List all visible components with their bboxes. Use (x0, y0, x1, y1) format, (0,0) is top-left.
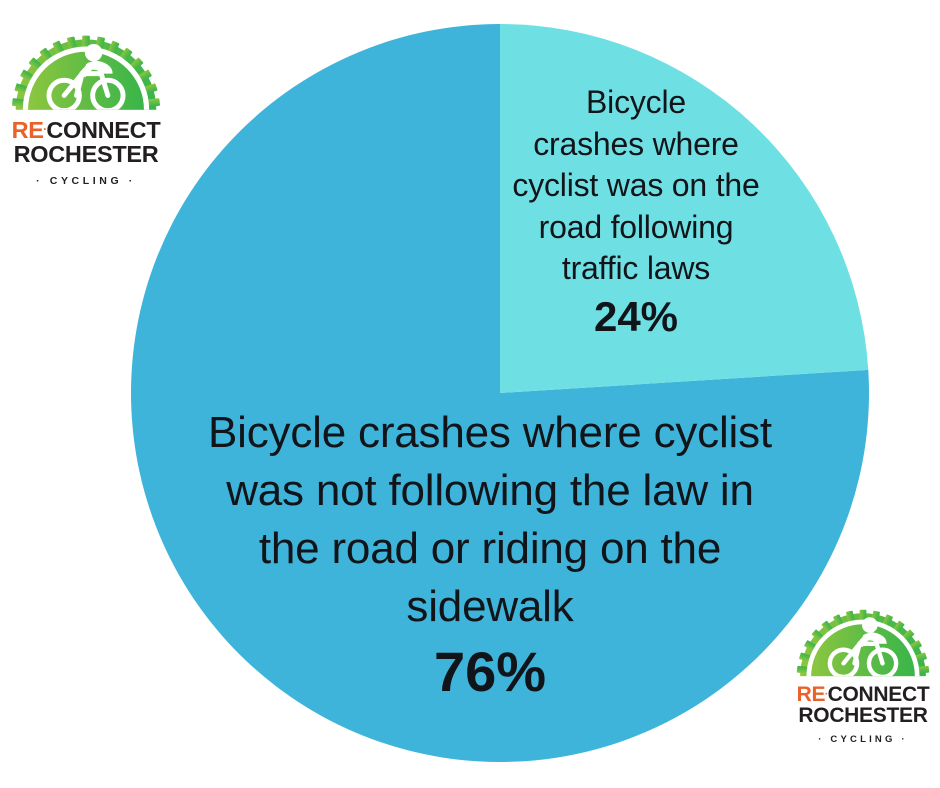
logo-tagline-dot-right: · (901, 734, 907, 745)
logo-tagline-dot-left: · (36, 175, 43, 187)
pie-label-76: Bicycle crashes where cyclist was not fo… (175, 404, 805, 706)
logo-tagline: · CYCLING · (10, 175, 162, 187)
logo-tagline-dot-left: · (818, 734, 824, 745)
logo-top-left: RE·CONNECT ROCHESTER · CYCLING · (10, 18, 162, 187)
pie-label-24-line-1: Bicycle (496, 82, 776, 124)
logo-wordmark-connect: CONNECT (828, 683, 930, 706)
pie-label-24-line-4: road following (496, 207, 776, 249)
logo-wordmark-dot: · (43, 123, 47, 136)
pie-label-24-line-3: cyclist was on the (496, 165, 776, 207)
pie-value-24: 24% (496, 292, 776, 342)
logo-wordmark-connect: CONNECT (46, 117, 160, 143)
pie-label-76-line-1: Bicycle crashes where cyclist (175, 404, 805, 462)
pie-label-24: Bicycle crashes where cyclist was on the… (496, 82, 776, 342)
pie-label-76-line-2: was not following the law in (175, 462, 805, 520)
logo-wordmark: RE·CONNECT ROCHESTER (795, 684, 931, 727)
logo-bottom-right: RE·CONNECT ROCHESTER · CYCLING · (795, 594, 931, 745)
logo-wordmark-dot: · (825, 688, 828, 700)
cyclist-in-gear-icon (10, 18, 162, 114)
cyclist-in-gear-icon (795, 594, 931, 680)
infographic-canvas: Bicycle crashes where cyclist was on the… (0, 0, 940, 788)
logo-wordmark-rochester: ROCHESTER (10, 143, 162, 167)
pie-value-76: 76% (175, 638, 805, 705)
logo-wordmark-re: RE (12, 117, 44, 143)
pie-label-76-line-4: sidewalk (175, 578, 805, 636)
logo-tagline: · CYCLING · (795, 734, 931, 745)
pie-label-24-line-2: crashes where (496, 124, 776, 166)
logo-wordmark-re: RE (797, 683, 826, 706)
pie-label-24-line-5: traffic laws (496, 248, 776, 290)
logo-wordmark-rochester: ROCHESTER (795, 705, 931, 726)
logo-tagline-dot-right: · (129, 175, 136, 187)
logo-tagline-text: CYCLING (50, 175, 122, 187)
pie-label-76-line-3: the road or riding on the (175, 520, 805, 578)
logo-wordmark: RE·CONNECT ROCHESTER (10, 119, 162, 167)
logo-tagline-text: CYCLING (830, 734, 895, 745)
